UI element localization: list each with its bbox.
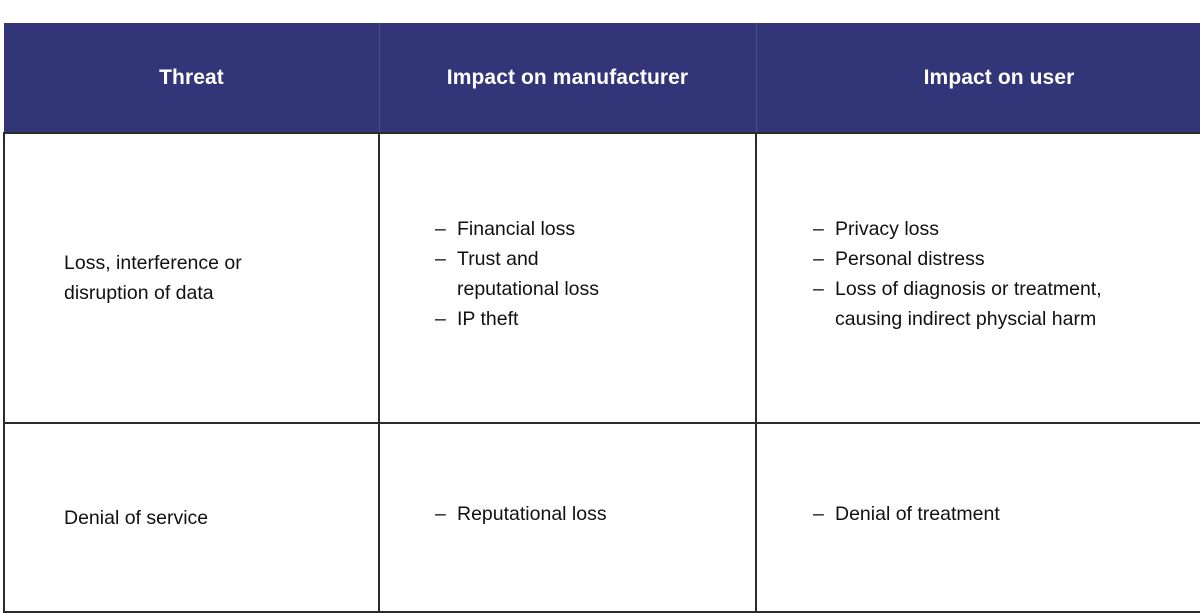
list-item-line: IP theft — [457, 304, 741, 334]
threat-impact-table: Threat Impact on manufacturer Impact on … — [3, 23, 1200, 613]
threat-text: Denial of service — [5, 503, 378, 533]
list-item-line: Financial loss — [457, 214, 741, 244]
user-impact-list: – Privacy loss – Personal distress – Los… — [757, 214, 1200, 334]
list-item: – Privacy loss — [813, 214, 1200, 244]
table-header: Threat Impact on manufacturer Impact on … — [4, 23, 1200, 133]
list-item: – Financial loss — [435, 214, 741, 244]
list-item: – Personal distress — [813, 244, 1200, 274]
list-item: – Trust and reputational loss — [435, 244, 741, 304]
column-header-impact-on-user: Impact on user — [756, 23, 1200, 133]
threat-line: Loss, interference or — [64, 248, 364, 278]
list-item-line: Loss of diagnosis or treatment, — [835, 274, 1200, 304]
table-body: Loss, interference or disruption of data… — [4, 133, 1200, 612]
table-row: Denial of service – Reputational loss — [4, 423, 1200, 612]
bullet-dash-icon: – — [813, 499, 824, 529]
cell-impact-on-user: – Privacy loss – Personal distress – Los… — [756, 133, 1200, 423]
list-item-line: Denial of treatment — [835, 499, 1200, 529]
threat-text: Loss, interference or disruption of data — [5, 248, 378, 308]
user-impact-list: – Denial of treatment — [757, 499, 1200, 529]
list-item-line: causing indirect physcial harm — [835, 304, 1200, 334]
bullet-dash-icon: – — [813, 214, 824, 244]
bullet-dash-icon: – — [813, 274, 824, 304]
user-impact-list-wrap: – Privacy loss – Personal distress – Los… — [757, 214, 1200, 334]
bullet-dash-icon: – — [435, 214, 446, 244]
list-item-line: reputational loss — [457, 274, 741, 304]
list-item: – Reputational loss — [435, 499, 741, 529]
list-item: – Loss of diagnosis or treatment, causin… — [813, 274, 1200, 334]
list-item: – Denial of treatment — [813, 499, 1200, 529]
list-item: – IP theft — [435, 304, 741, 334]
manufacturer-impact-list-wrap: – Reputational loss — [380, 499, 755, 529]
list-item-line: Personal distress — [835, 244, 1200, 274]
bullet-dash-icon: – — [813, 244, 824, 274]
page-root: Threat Impact on manufacturer Impact on … — [0, 0, 1200, 598]
manufacturer-impact-list: – Financial loss – Trust and reputationa… — [380, 214, 755, 334]
list-item-line: Reputational loss — [457, 499, 741, 529]
threat-line: disruption of data — [64, 278, 364, 308]
column-header-impact-on-manufacturer: Impact on manufacturer — [379, 23, 756, 133]
bullet-dash-icon: – — [435, 244, 446, 274]
cell-impact-on-user: – Denial of treatment — [756, 423, 1200, 612]
header-row: Threat Impact on manufacturer Impact on … — [4, 23, 1200, 133]
bullet-dash-icon: – — [435, 304, 446, 334]
bullet-dash-icon: – — [435, 499, 446, 529]
cell-threat: Denial of service — [4, 423, 379, 612]
manufacturer-impact-list-wrap: – Financial loss – Trust and reputationa… — [380, 214, 755, 334]
cell-impact-on-manufacturer: – Financial loss – Trust and reputationa… — [379, 133, 756, 423]
threat-line: Denial of service — [64, 503, 364, 533]
list-item-line: Trust and — [457, 244, 741, 274]
column-header-threat: Threat — [4, 23, 379, 133]
user-impact-list-wrap: – Denial of treatment — [757, 499, 1200, 529]
cell-threat: Loss, interference or disruption of data — [4, 133, 379, 423]
table-row: Loss, interference or disruption of data… — [4, 133, 1200, 423]
cell-impact-on-manufacturer: – Reputational loss — [379, 423, 756, 612]
list-item-line: Privacy loss — [835, 214, 1200, 244]
manufacturer-impact-list: – Reputational loss — [380, 499, 755, 529]
